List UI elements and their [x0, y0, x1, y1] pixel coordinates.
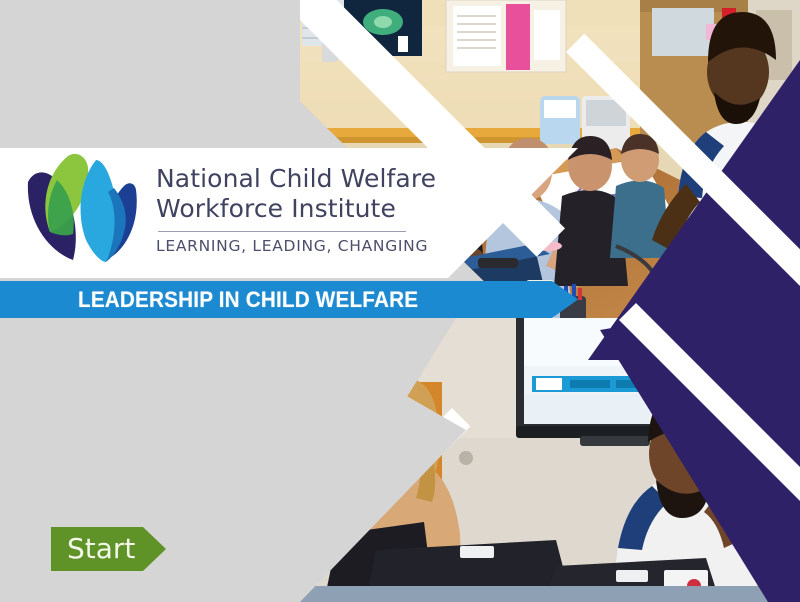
ncwwi-leaf-logo-icon: [24, 152, 142, 264]
wordmark-divider-rule: [158, 231, 406, 232]
logo-lockup: National Child Welfare Workforce Institu…: [24, 152, 436, 264]
course-title-banner: LEADERSHIP IN CHILD WELFARE: [0, 281, 578, 318]
org-tagline: LEARNING, LEADING, CHANGING: [156, 237, 436, 255]
course-title-text: LEADERSHIP IN CHILD WELFARE: [78, 287, 418, 313]
leaf-logo-artwork: [24, 152, 142, 264]
org-name-line-1: National Child Welfare: [156, 164, 436, 194]
title-slide: National Child Welfare Workforce Institu…: [0, 0, 800, 602]
background-panel-top-left: [0, 0, 300, 150]
org-name-line-2: Workforce Institute: [156, 194, 436, 224]
start-button-label: Start: [67, 535, 135, 563]
logo-wordmark: National Child Welfare Workforce Institu…: [156, 152, 436, 255]
start-button[interactable]: Start: [51, 527, 166, 571]
